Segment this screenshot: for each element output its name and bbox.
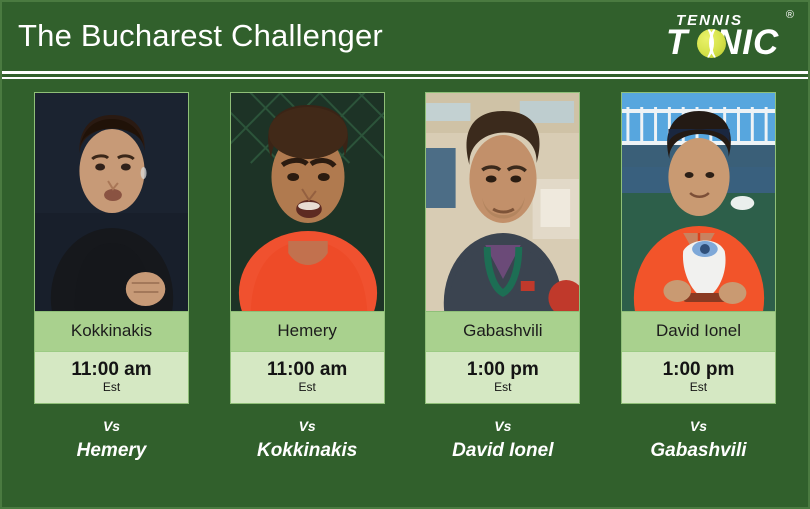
player-card[interactable]: Gabashvili 1:00 pm Est [425,92,580,404]
opponent-name: Kokkinakis [230,438,385,464]
opponent-name: David Ionel [425,438,580,464]
versus-block: Vs Kokkinakis [230,417,385,464]
match-time-block: 1:00 pm Est [426,351,579,403]
match-timezone: Est [428,380,577,394]
player-card[interactable]: David Ionel 1:00 pm Est [621,92,776,404]
page-title: The Bucharest Challenger [18,18,383,54]
match-card[interactable]: David Ionel 1:00 pm Est Vs Gabashvili [621,92,776,464]
player-name: David Ionel [622,311,775,351]
tennis-schedule-graphic: The Bucharest Challenger TENNIS TONIC ® [0,0,810,509]
match-card-grid: Kokkinakis 11:00 am Est Vs Hemery [2,82,808,464]
match-time-block: 11:00 am Est [35,351,188,403]
player-name: Hemery [231,311,384,351]
player-photo [35,93,188,311]
header-bar: The Bucharest Challenger TENNIS TONIC ® [2,2,808,70]
player-photo [231,93,384,311]
vs-label: Vs [230,417,385,435]
player-card[interactable]: Kokkinakis 11:00 am Est [34,92,189,404]
opponent-name: Hemery [34,438,189,464]
logo-tonic-left: T [666,23,688,62]
match-time: 1:00 pm [624,359,773,381]
header-divider [2,70,808,82]
match-card[interactable]: Kokkinakis 11:00 am Est Vs Hemery [34,92,189,464]
divider-line-thin [2,77,808,79]
versus-block: Vs David Ionel [425,417,580,464]
match-timezone: Est [624,380,773,394]
vs-label: Vs [34,417,189,435]
versus-block: Vs Hemery [34,417,189,464]
player-card[interactable]: Hemery 11:00 am Est [230,92,385,404]
player-name: Gabashvili [426,311,579,351]
match-time: 11:00 am [37,359,186,381]
vs-label: Vs [425,417,580,435]
vs-label: Vs [621,417,776,435]
player-photo [622,93,775,311]
match-time: 11:00 am [233,359,382,381]
match-card[interactable]: Gabashvili 1:00 pm Est Vs David Ionel [425,92,580,464]
match-card[interactable]: Hemery 11:00 am Est Vs Kokkinakis [230,92,385,464]
match-time-block: 11:00 am Est [231,351,384,403]
registered-trademark-icon: ® [786,10,794,21]
opponent-name: Gabashvili [621,438,776,464]
match-timezone: Est [37,380,186,394]
tennis-tonic-logo: TENNIS TONIC ® [660,8,800,64]
versus-block: Vs Gabashvili [621,417,776,464]
divider-line-thick [2,71,808,74]
match-time: 1:00 pm [428,359,577,381]
player-name: Kokkinakis [35,311,188,351]
match-time-block: 1:00 pm Est [622,351,775,403]
match-timezone: Est [233,380,382,394]
player-photo [426,93,579,311]
tennis-ball-icon [697,29,726,58]
